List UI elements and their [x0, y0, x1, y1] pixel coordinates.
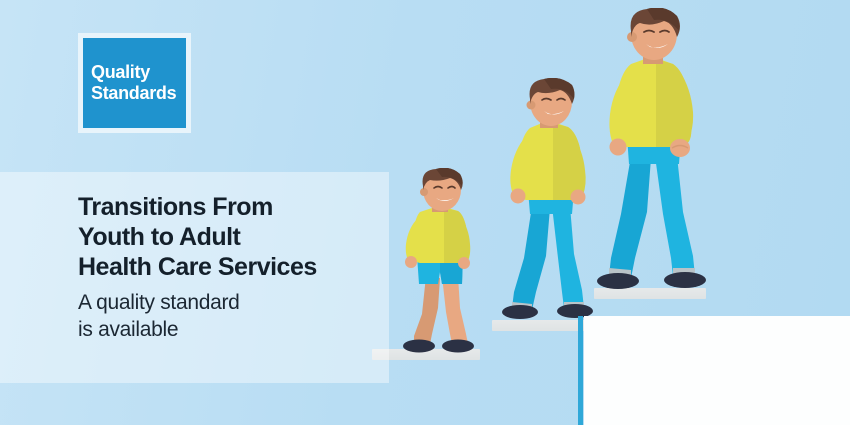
headline-line-2: Youth to Adult	[78, 222, 398, 252]
subhead-line-2: is available	[78, 316, 398, 343]
quality-standards-badge-text: Quality Standards	[91, 62, 191, 104]
headline-line-1: Transitions From	[78, 192, 398, 222]
quality-standards-badge: Quality Standards	[78, 33, 191, 133]
youth-figure	[498, 78, 598, 324]
page-subtitle: A quality standard is available	[78, 289, 398, 343]
subhead-line-1: A quality standard	[78, 289, 398, 316]
adult-figure	[597, 8, 709, 296]
ontario-health-logo-card: Ontario Health	[584, 316, 850, 425]
badge-line-2: Standards	[91, 83, 176, 103]
page-title: Transitions From Youth to Adult Health C…	[78, 192, 398, 282]
quality-standards-banner: Quality Standards Transitions From Youth…	[0, 0, 850, 425]
badge-line-1: Quality	[91, 62, 150, 82]
child-figure	[392, 168, 478, 353]
headline-line-3: Health Care Services	[78, 252, 398, 282]
logo-accent-bar	[578, 316, 583, 425]
